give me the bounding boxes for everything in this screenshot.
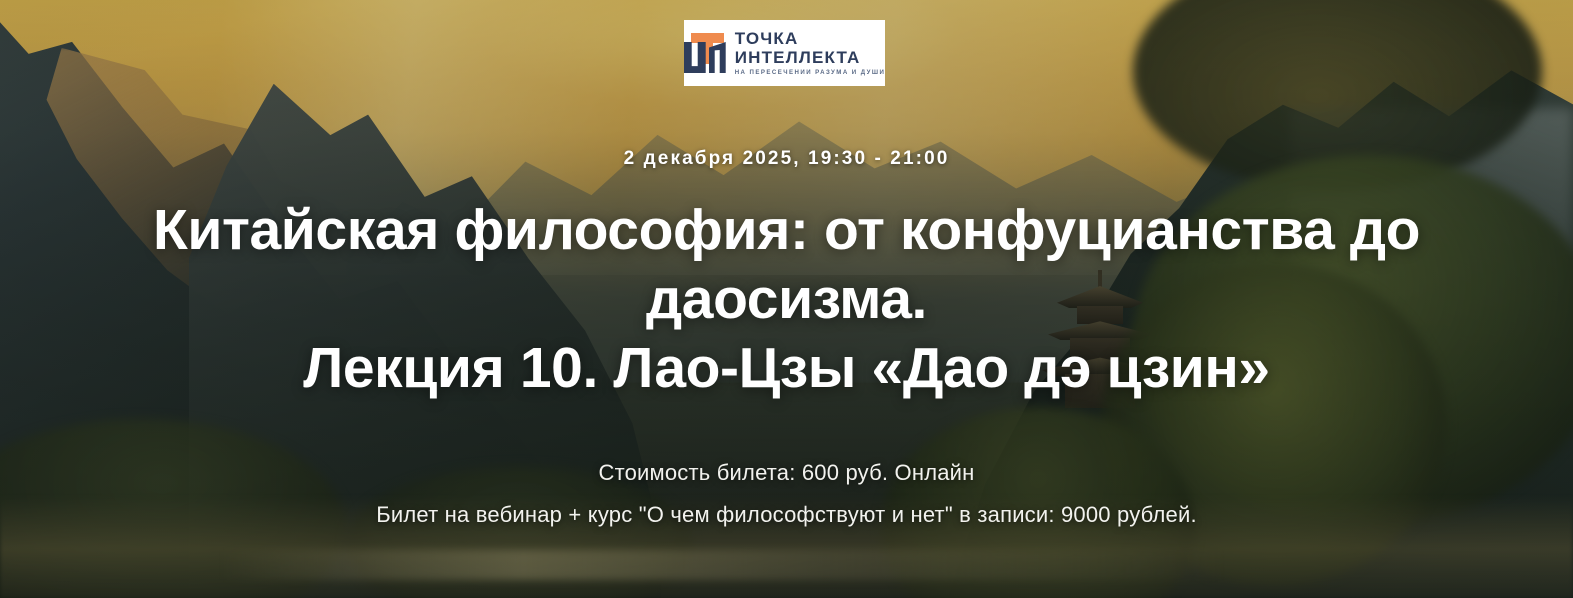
brand-logo[interactable]: ТОЧКА ИНТЕЛЛЕКТА НА ПЕРЕСЕЧЕНИИ РАЗУМА И… (684, 20, 885, 86)
banner-content: ТОЧКА ИНТЕЛЛЕКТА НА ПЕРЕСЕЧЕНИИ РАЗУМА И… (0, 0, 1573, 598)
title-line-3: Лекция 10. Лао-Цзы «Дао дэ цзин» (87, 334, 1487, 403)
logo-wordmark: ТОЧКА ИНТЕЛЛЕКТА НА ПЕРЕСЕЧЕНИИ РАЗУМА И… (735, 30, 886, 76)
event-datetime: 2 декабря 2025, 19:30 - 21:00 (0, 148, 1573, 170)
ticket-price-line: Стоимость билета: 600 руб. Онлайн (0, 460, 1573, 486)
logo-line-1: ТОЧКА (735, 30, 886, 47)
logo-mark-icon (684, 31, 726, 75)
title-line-2: даосизма. (87, 265, 1487, 334)
event-banner: ТОЧКА ИНТЕЛЛЕКТА НА ПЕРЕСЕЧЕНИИ РАЗУМА И… (0, 0, 1573, 598)
title-line-1: Китайская философия: от конфуцианства до (87, 196, 1487, 265)
logo-navy-u-shape (684, 42, 706, 73)
bundle-price-line: Билет на вебинар + курс "О чем философст… (0, 502, 1573, 528)
page-title: Китайская философия: от конфуцианства до… (87, 196, 1487, 403)
logo-line-2: ИНТЕЛЛЕКТА (735, 49, 886, 66)
logo-tagline: НА ПЕРЕСЕЧЕНИИ РАЗУМА И ДУШИ (735, 70, 886, 76)
